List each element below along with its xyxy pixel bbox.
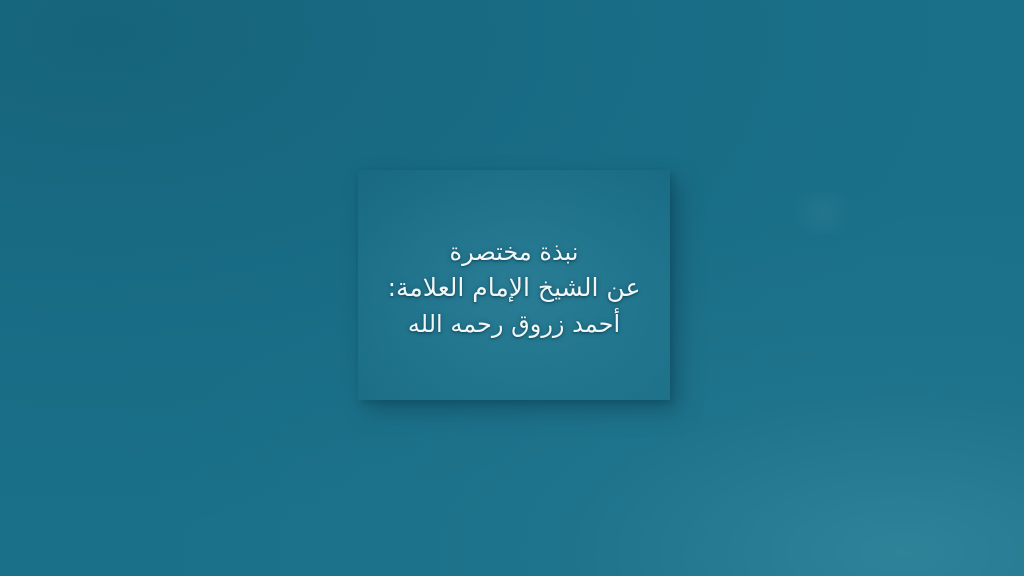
watermark-icon (796, 192, 848, 234)
slide-stage: نبذة مختصرة عن الشيخ الإمام العلامة: أحم… (0, 0, 1024, 576)
title-text-block: نبذة مختصرة عن الشيخ الإمام العلامة: أحم… (358, 234, 670, 342)
title-line-1: نبذة مختصرة (368, 234, 660, 270)
title-line-3: أحمد زروق رحمه الله (368, 306, 660, 342)
title-line-2: عن الشيخ الإمام العلامة: (368, 270, 660, 306)
title-card: نبذة مختصرة عن الشيخ الإمام العلامة: أحم… (358, 170, 670, 400)
